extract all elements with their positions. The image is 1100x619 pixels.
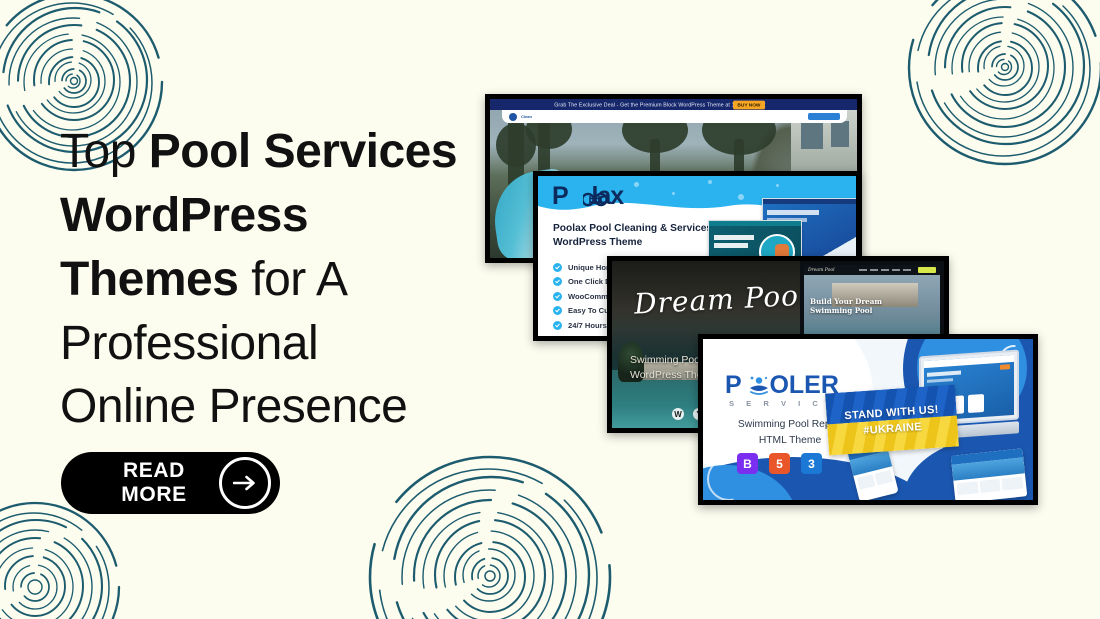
card4-tech-badges: B 5 3 [737, 453, 822, 474]
pooler-logo: P OLER [725, 373, 839, 398]
card3-site-navbar: Dream Pool [804, 265, 940, 275]
card1-promo-bar: Grab The Exclusive Deal - Get the Premiu… [490, 99, 857, 110]
css3-icon: 3 [801, 453, 822, 474]
card4-subtitle-line2: HTML Theme [759, 435, 821, 446]
headline-word-for-a: for A [238, 253, 347, 306]
card3-hero-heading: Build Your Dream Swimming Pool [810, 297, 882, 316]
card4-screenshot: P OLER S E R V I C E S Swimming Pool Rep… [703, 339, 1033, 500]
card3-site-cta-button[interactable] [918, 267, 936, 273]
check-icon [553, 277, 562, 286]
headline-line-professional: Professional [60, 317, 318, 370]
hero-line-2: Swimming Pool [810, 306, 872, 315]
card1-site-logo: Clean [521, 114, 532, 119]
bootstrap-icon: B [737, 453, 758, 474]
headline-line-online-presence: Online Presence [60, 380, 407, 433]
html5-icon: 5 [769, 453, 790, 474]
poster-canvas: Top Pool Services WordPress Themes for A… [0, 0, 1100, 619]
read-more-label: READ MORE [89, 459, 219, 507]
card3-site-logo: Dream Pool [808, 268, 835, 273]
card1-site-navbar: Clean [502, 110, 847, 123]
pool-splash-icon [747, 375, 771, 397]
ukraine-flag-banner: STAND WITH US! #UKRAINE [825, 385, 959, 456]
headline-bold-themes: Themes [60, 253, 238, 306]
check-icon [553, 321, 562, 330]
bottom-left-ripple-decoration [0, 500, 123, 619]
check-icon [553, 292, 562, 301]
top-right-ripple-decoration [905, 0, 1100, 168]
headline-bold-wordpress: WordPress [60, 189, 308, 242]
page-title: Top Pool Services WordPress Themes for A… [60, 120, 480, 439]
bottom-center-ripple-decoration [365, 452, 615, 619]
card1-buy-now-button[interactable]: BUY NOW [733, 100, 765, 109]
headline-bold-pool-services: Pool Services [149, 125, 457, 178]
check-icon [553, 306, 562, 315]
card1-nav-cta [808, 113, 840, 120]
card3-site-nav-links [859, 269, 911, 271]
read-more-button[interactable]: READ MORE [61, 452, 280, 514]
arrow-right-icon [219, 457, 271, 509]
site-logo-icon [509, 113, 517, 121]
pool-ladder-icon [583, 192, 607, 207]
wordpress-icon: W [672, 408, 684, 420]
tablet-mockup [951, 448, 1028, 500]
hero-line-1: Build Your Dream [810, 297, 882, 306]
check-icon [553, 263, 562, 272]
theme-card-pooler-services[interactable]: P OLER S E R V I C E S Swimming Pool Rep… [698, 334, 1038, 505]
headline-word-top: Top [60, 125, 149, 178]
